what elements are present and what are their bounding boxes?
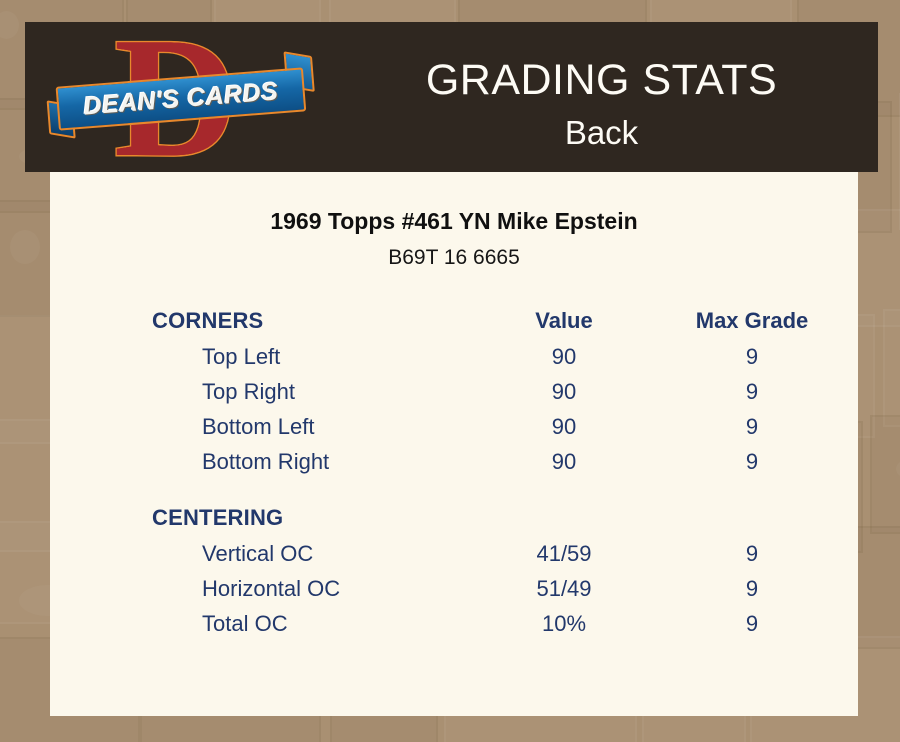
stat-label: Top Right [202,379,295,405]
logo-ribbon: DEAN'S CARDS [45,63,316,138]
page-title: GRADING STATS [325,56,878,105]
stat-label: Bottom Right [202,449,329,475]
stat-label: Total OC [202,611,288,637]
table-row: Vertical OC41/599 [152,541,858,576]
table-row: Top Right909 [152,379,858,414]
table-row: Total OC10%9 [152,611,858,646]
section-gap [152,484,858,505]
stat-max-grade: 9 [672,414,832,440]
section-header-centering: CENTERING [152,505,858,541]
section-title: CENTERING [152,505,283,531]
header-bar: D D DEAN'S CARDS GRADING STATS Back [25,22,878,172]
card-serial: B69T 16 6665 [50,246,858,270]
stat-max-grade: 9 [672,379,832,405]
stat-value: 51/49 [504,576,624,602]
table-row: Top Left909 [152,344,858,379]
table-row: Bottom Right909 [152,449,858,484]
section-title: CORNERS [152,308,263,334]
column-header-max-grade: Max Grade [672,308,832,334]
logo-wordmark: DEAN'S CARDS [56,67,307,130]
card-title: 1969 Topps #461 YN Mike Epstein [50,208,858,235]
stat-value: 10% [504,611,624,637]
stat-max-grade: 9 [672,576,832,602]
stat-label: Horizontal OC [202,576,340,602]
stat-max-grade: 9 [672,344,832,370]
stat-value: 41/59 [504,541,624,567]
table-row: Bottom Left909 [152,414,858,449]
deans-cards-logo: D D DEAN'S CARDS [47,27,317,167]
table-row: Horizontal OC51/499 [152,576,858,611]
stat-max-grade: 9 [672,611,832,637]
stat-label: Bottom Left [202,414,315,440]
stat-value: 90 [504,414,624,440]
content-panel: 1969 Topps #461 YN Mike Epstein B69T 16 … [50,172,858,716]
page-subtitle: Back [325,114,878,152]
stat-max-grade: 9 [672,541,832,567]
stat-label: Top Left [202,344,280,370]
grading-stats-table: CORNERSValueMax GradeTop Left909Top Righ… [152,308,858,646]
stat-label: Vertical OC [202,541,313,567]
section-header-corners: CORNERSValueMax Grade [152,308,858,344]
stat-max-grade: 9 [672,449,832,475]
page-root: D D DEAN'S CARDS GRADING STATS Back 1969… [0,0,900,742]
stat-value: 90 [504,344,624,370]
stat-value: 90 [504,379,624,405]
column-header-value: Value [504,308,624,334]
stat-value: 90 [504,449,624,475]
